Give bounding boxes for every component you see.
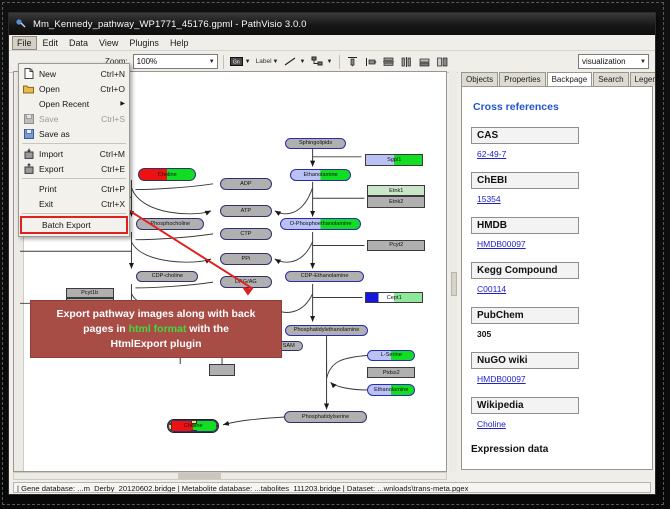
file-menu-item-new[interactable]: NewCtrl+N	[19, 66, 129, 81]
zoom-value: 100%	[137, 57, 157, 66]
pathway-node-label: Pcyt2	[389, 242, 403, 248]
pathway-node-adp[interactable]: ADP	[220, 178, 272, 190]
pathway-node-phosphocholine[interactable]: Phosphocholine	[136, 218, 204, 230]
distribute-horizontal-button[interactable]	[399, 54, 414, 69]
window-title: Mm_Kennedy_pathway_WP1771_45176.gpml - P…	[33, 19, 307, 30]
pathway-node-label: Sgpl1	[387, 157, 401, 163]
side-panel-tabs: Objects Properties Backpage Search Legen…	[458, 71, 655, 86]
align-top-button[interactable]	[345, 54, 360, 69]
file-menu-item-open-recent[interactable]: Open Recent▶	[19, 96, 129, 111]
xref-source-nugo-wiki: NuGO wiki	[471, 352, 579, 369]
panel-splitter[interactable]	[449, 71, 457, 472]
xref-source-kegg-compound: Kegg Compound	[471, 262, 579, 279]
menu-separator	[22, 178, 126, 179]
chevron-down-icon: ▼	[326, 59, 332, 65]
tab-legend[interactable]: Legend	[630, 72, 656, 86]
pathway-node-label: Etnk2	[389, 199, 403, 205]
annotation-highlight: html format	[129, 323, 187, 335]
menu-separator	[22, 143, 126, 144]
toolbar-separator	[339, 55, 340, 69]
xref-link[interactable]: 62-49-7	[477, 149, 506, 159]
chevron-down-icon: ▼	[245, 59, 251, 65]
menu-item-label: Import	[39, 149, 94, 159]
pathway-node-phosphatidylserine[interactable]: Phosphatidylserine	[284, 411, 368, 423]
menu-item-accelerator: Ctrl+P	[101, 184, 125, 194]
menu-item-accelerator: Ctrl+S	[101, 114, 125, 124]
menu-item-no-icon	[21, 182, 36, 195]
menu-item-accelerator: Ctrl+E	[101, 164, 125, 174]
file-menu-item-save-as[interactable]: Save as	[19, 126, 129, 141]
pathway-node-label: Cept1	[387, 295, 402, 301]
menu-item-accelerator: Ctrl+X	[101, 199, 125, 209]
pathway-node-ppi[interactable]: PPi	[220, 253, 272, 265]
menubar: File Edit Data View Plugins Help	[9, 35, 655, 51]
visualization-value: visualization	[582, 57, 626, 66]
save-icon	[21, 112, 36, 125]
geneproduct-tool[interactable]: Gn ▼	[229, 54, 253, 69]
interaction-tool[interactable]: ▼	[310, 54, 334, 69]
export-icon	[21, 162, 36, 175]
file-menu-item-export[interactable]: ExportCtrl+E	[19, 161, 129, 176]
pathway-node-label: ADP	[240, 181, 252, 187]
tab-properties[interactable]: Properties	[499, 72, 545, 86]
xref-link[interactable]: HMDB00097	[477, 374, 526, 384]
pathway-node-pcyt2[interactable]: Pcyt2	[367, 240, 425, 252]
chevron-down-icon: ▼	[299, 59, 305, 65]
pathway-node-ethanolamine-bottom[interactable]: Ethanolamine	[367, 384, 415, 396]
annotation-line2-pre: pages in	[83, 323, 129, 335]
menu-item-label: Batch Export	[42, 220, 122, 230]
pathway-node-cept1[interactable]: Cept1	[365, 292, 423, 304]
pathway-node-l-serine[interactable]: L-Serine	[367, 350, 415, 362]
xref-source-wikipedia: Wikipedia	[471, 397, 579, 414]
status-text: | Gene database: ...m_Derby_20120602.bri…	[13, 482, 651, 493]
menu-item-accelerator: Ctrl+N	[101, 69, 125, 79]
folder-open-icon	[21, 82, 36, 95]
menu-item-no-icon	[21, 197, 36, 210]
pathway-node-label: L-Serine	[381, 352, 402, 358]
menu-item-label: Open Recent	[39, 99, 114, 109]
pathway-node-label: Phosphocholine	[150, 221, 190, 227]
menu-item-accelerator: Ctrl+M	[100, 149, 125, 159]
annotation-line2-post: with the	[186, 323, 229, 335]
expression-data-title: Expression data	[471, 444, 643, 455]
pathway-node-o-phosphoethanolamine[interactable]: O-Phosphoethanolamine	[280, 218, 362, 230]
pathway-node-label: Ethanolamine	[303, 172, 337, 178]
geneproduct-icon: Gn	[229, 54, 244, 69]
pathway-node-label: Ptdss2	[383, 370, 400, 376]
toolbar-separator	[223, 55, 224, 69]
file-menu-item-save: SaveCtrl+S	[19, 111, 129, 126]
pathway-node-label: Phosphatidylethanolamine	[294, 327, 360, 333]
pathway-node-label: CDP-choline	[152, 273, 183, 279]
pathvisio-icon	[15, 18, 27, 30]
file-menu-item-exit[interactable]: ExitCtrl+X	[19, 196, 129, 211]
xref-link[interactable]: 15354	[477, 194, 501, 204]
cross-references-title: Cross references	[473, 101, 643, 113]
cross-reference-list: CAS62-49-7ChEBI15354HMDBHMDB00097Kegg Co…	[471, 127, 643, 442]
menu-file[interactable]: File	[12, 36, 37, 50]
xref-source-cas: CAS	[471, 127, 579, 144]
pathway-node-cdp-ethanolamine[interactable]: CDP-Ethanolamine	[285, 271, 365, 283]
pathway-node-sphingolipids[interactable]: Sphingolipids	[285, 138, 347, 150]
label-tool[interactable]: Label ▼	[256, 58, 281, 65]
zoom-combobox[interactable]: 100% ▼	[133, 54, 218, 69]
pathway-node-label: SAM	[283, 343, 295, 349]
file-menu-item-open[interactable]: OpenCtrl+O	[19, 81, 129, 96]
xref-source-chebi: ChEBI	[471, 172, 579, 189]
pathway-node-ctp[interactable]: CTP	[220, 228, 272, 240]
file-menu-dropdown: NewCtrl+NOpenCtrl+OOpen Recent▶SaveCtrl+…	[18, 63, 130, 237]
chevron-down-icon: ▼	[209, 59, 215, 65]
label-tool-label: Label	[256, 58, 272, 65]
pathway-node-label: Pcyt1b	[81, 290, 98, 296]
pathway-node-label: Etnk1	[389, 188, 403, 194]
file-menu-item-batch-export[interactable]: Batch Export	[20, 216, 128, 234]
xref-link[interactable]: C00114	[477, 284, 506, 294]
screenshot-background: Mm_Kennedy_pathway_WP1771_45176.gpml - P…	[0, 0, 670, 509]
same-height-button[interactable]	[435, 54, 450, 69]
new-file-icon	[21, 67, 36, 80]
file-menu-item-import[interactable]: ImportCtrl+M	[19, 146, 129, 161]
menu-item-label: Open	[39, 84, 94, 94]
pathway-node-label: CTP	[240, 231, 251, 237]
save-as-icon	[21, 127, 36, 140]
toolbar-right-group: visualization ▼	[578, 54, 649, 69]
pathway-node-label: Ethanolamine	[374, 387, 408, 393]
pathvisio-window: Mm_Kennedy_pathway_WP1771_45176.gpml - P…	[8, 12, 656, 495]
line-tool[interactable]: ▼	[283, 54, 307, 69]
menu-item-label: Save	[39, 114, 95, 124]
pathway-node-label: Choline	[158, 172, 177, 178]
splitter-grip[interactable]	[451, 272, 457, 296]
window-titlebar: Mm_Kennedy_pathway_WP1771_45176.gpml - P…	[9, 13, 655, 35]
pathway-node-etnk1[interactable]: Etnk1	[367, 185, 425, 197]
same-width-button[interactable]	[417, 54, 432, 69]
xref-source-pubchem: PubChem	[471, 307, 579, 324]
distribute-vertical-button[interactable]	[381, 54, 396, 69]
menu-separator	[22, 213, 126, 214]
annotation-line3: HtmlExport plugin	[111, 338, 202, 350]
menu-item-no-icon	[21, 97, 36, 110]
tab-objects[interactable]: Objects	[461, 72, 498, 86]
pathway-node-pemt[interactable]	[209, 364, 235, 376]
pathway-node-dag-ag[interactable]: DAG/AG	[220, 276, 272, 288]
pathway-node-label: PPi	[242, 256, 251, 262]
visualization-combobox[interactable]: visualization ▼	[578, 54, 649, 69]
chevron-right-icon: ▶	[120, 100, 125, 107]
statusbar: | Gene database: ...m_Derby_20120602.bri…	[9, 472, 655, 494]
menu-item-label: Print	[39, 184, 95, 194]
pathway-node-label: ATP	[241, 208, 251, 214]
annotation-callout: Export pathway images along with back pa…	[30, 300, 282, 358]
chevron-down-icon: ▼	[640, 59, 646, 65]
xref-link[interactable]: Choline	[477, 419, 506, 429]
xref-value: 305	[477, 329, 491, 339]
import-icon	[21, 147, 36, 160]
file-menu-item-print[interactable]: PrintCtrl+P	[19, 181, 129, 196]
selection-handles[interactable]	[169, 421, 217, 432]
pathway-node-label: Phosphatidylserine	[302, 414, 349, 420]
align-left-button[interactable]	[363, 54, 378, 69]
pathway-node-phosphatidylethanolamine[interactable]: Phosphatidylethanolamine	[285, 325, 369, 337]
menu-plugins[interactable]: Plugins	[124, 36, 164, 50]
menu-data[interactable]: Data	[64, 36, 93, 50]
pathway-node-label: O-Phosphoethanolamine	[290, 221, 352, 227]
side-panel: Objects Properties Backpage Search Legen…	[458, 71, 655, 472]
annotation-text: Export pathway images along with back pa…	[51, 307, 262, 352]
menu-edit[interactable]: Edit	[38, 36, 64, 50]
xref-source-hmdb: HMDB	[471, 217, 579, 234]
menu-item-label: Save as	[39, 129, 125, 139]
menu-item-label: Exit	[39, 199, 95, 209]
menu-item-label: Export	[39, 164, 95, 174]
pathway-node-atp[interactable]: ATP	[220, 205, 272, 217]
menu-item-no-icon	[24, 219, 39, 232]
backpage-content: Cross references CAS62-49-7ChEBI15354HMD…	[461, 86, 653, 470]
pathway-node-label: Sphingolipids	[299, 140, 332, 146]
pathway-node-cdp-choline[interactable]: CDP-choline	[136, 271, 198, 283]
pathway-node-label: DAG/AG	[235, 279, 257, 285]
tab-backpage[interactable]: Backpage	[547, 72, 593, 87]
scrollbar-thumb[interactable]	[178, 473, 221, 479]
svg-text:Gn: Gn	[233, 60, 240, 66]
pathway-node-choline-bottom[interactable]: Choline	[168, 420, 218, 433]
pathway-node-sgpl1[interactable]: Sgpl1	[365, 154, 423, 167]
chevron-down-icon: ▼	[273, 59, 279, 65]
menu-view[interactable]: View	[94, 36, 123, 50]
menu-help[interactable]: Help	[165, 36, 194, 50]
pathway-node-pcyt1b[interactable]: Pcyt1b	[66, 288, 114, 299]
pathway-node-ethanolamine-top[interactable]: Ethanolamine	[290, 169, 352, 181]
xref-link[interactable]: HMDB00097	[477, 239, 526, 249]
menu-item-label: New	[39, 69, 95, 79]
line-icon	[283, 54, 298, 69]
pathway-node-etnk2[interactable]: Etnk2	[367, 196, 425, 208]
pathway-node-ptdss2[interactable]: Ptdss2	[367, 367, 415, 379]
canvas-horizontal-scrollbar[interactable]	[13, 472, 447, 480]
menu-item-accelerator: Ctrl+O	[100, 84, 125, 94]
pathway-node-label: CDP-Ethanolamine	[301, 273, 349, 279]
tab-search[interactable]: Search	[593, 72, 628, 86]
annotation-line1: Export pathway images along with back	[57, 308, 256, 320]
interaction-icon	[310, 54, 325, 69]
pathway-node-choline-top[interactable]: Choline	[138, 168, 196, 181]
